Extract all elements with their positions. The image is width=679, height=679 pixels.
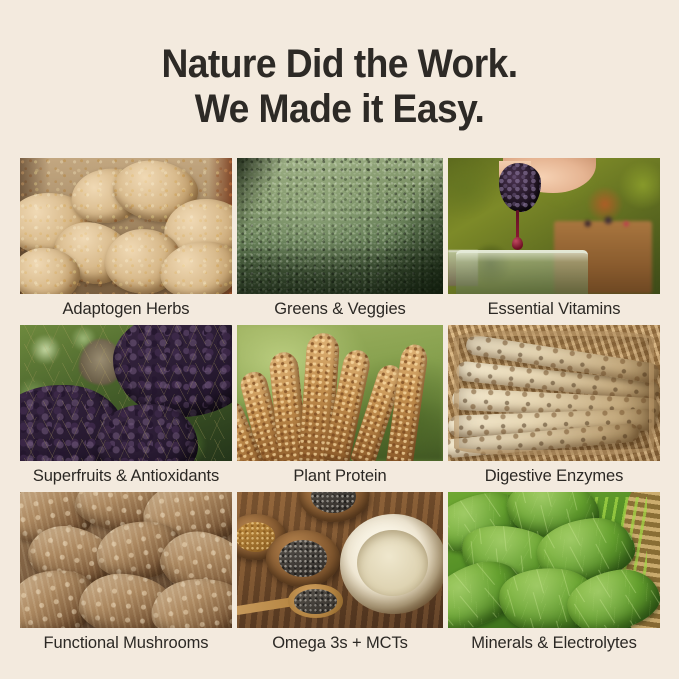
berry-stems xyxy=(20,325,232,461)
grid-item-superfruits-antioxidants: Superfruits & Antioxidants xyxy=(20,325,232,492)
coconut-flesh xyxy=(357,530,428,596)
juice-droplet xyxy=(512,237,523,250)
bowl-contents xyxy=(279,540,326,577)
caption-superfruits-antioxidants: Superfruits & Antioxidants xyxy=(20,461,232,492)
maitake-mushrooms-image xyxy=(20,492,232,628)
infographic-page: Nature Did the Work. We Made it Easy. Ad… xyxy=(0,0,679,679)
chia-coconut-image xyxy=(237,492,443,628)
drinking-glass xyxy=(456,250,587,294)
spoon-chia-seeds xyxy=(294,589,337,613)
seed-bowl xyxy=(266,530,340,587)
ingredient-grid: Adaptogen Herbs Greens & Veggies xyxy=(20,158,661,659)
grid-item-omega-mcts: Omega 3s + MCTs xyxy=(237,492,443,659)
grid-item-digestive-enzymes: Digestive Enzymes xyxy=(448,325,660,492)
halved-coconut xyxy=(340,514,443,615)
maca-roots-image xyxy=(20,158,232,294)
daikon-roots-image xyxy=(448,325,660,461)
caption-essential-vitamins: Essential Vitamins xyxy=(448,294,660,325)
amaranth-image xyxy=(237,325,443,461)
crate-berries xyxy=(575,214,639,230)
caption-plant-protein: Plant Protein xyxy=(237,461,443,492)
spinach-image xyxy=(448,492,660,628)
page-title: Nature Did the Work. We Made it Easy. xyxy=(24,42,655,132)
grid-item-essential-vitamins: Essential Vitamins xyxy=(448,158,660,325)
grid-item-adaptogen-herbs: Adaptogen Herbs xyxy=(20,158,232,325)
powder-shading xyxy=(237,158,443,294)
juice-stream xyxy=(516,210,519,240)
caption-functional-mushrooms: Functional Mushrooms xyxy=(20,628,232,659)
caption-digestive-enzymes: Digestive Enzymes xyxy=(448,461,660,492)
basket-rim xyxy=(448,325,660,461)
acai-berries-image xyxy=(20,325,232,461)
caption-greens-veggies: Greens & Veggies xyxy=(237,294,443,325)
maca-texture xyxy=(20,158,232,294)
blackberry-juice-image xyxy=(448,158,660,294)
grid-item-plant-protein: Plant Protein xyxy=(237,325,443,492)
bowl-contents xyxy=(311,492,356,513)
headline-line-2: We Made it Easy. xyxy=(24,87,655,132)
grid-item-greens-veggies: Greens & Veggies xyxy=(237,158,443,325)
mushroom-ridges xyxy=(20,492,232,628)
headline-line-1: Nature Did the Work. xyxy=(161,42,517,86)
wooden-spoon xyxy=(237,582,352,623)
caption-adaptogen-herbs: Adaptogen Herbs xyxy=(20,294,232,325)
caption-omega-mcts: Omega 3s + MCTs xyxy=(237,628,443,659)
green-powder-image xyxy=(237,158,443,294)
grid-item-functional-mushrooms: Functional Mushrooms xyxy=(20,492,232,659)
caption-minerals-electrolytes: Minerals & Electrolytes xyxy=(448,628,660,659)
grid-item-minerals-electrolytes: Minerals & Electrolytes xyxy=(448,492,660,659)
